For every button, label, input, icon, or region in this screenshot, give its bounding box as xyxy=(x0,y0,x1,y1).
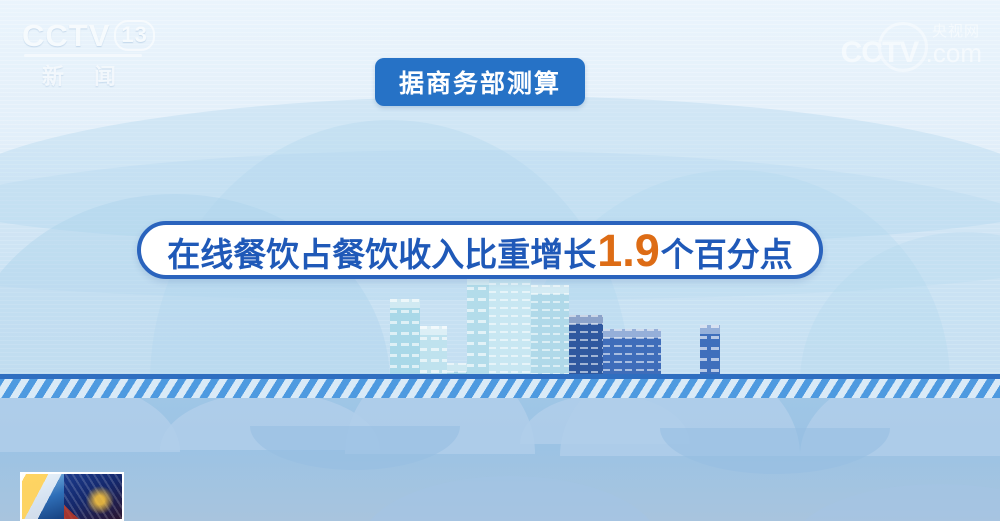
water-foreground xyxy=(0,398,1000,521)
wave-trough xyxy=(250,426,460,470)
building-roof-cap xyxy=(390,299,420,308)
cctv-com-domain: .com xyxy=(926,38,982,68)
cctv13-wordmark: CCTV 13 xyxy=(22,20,148,51)
cctv13-underline xyxy=(24,54,142,57)
bug-swoosh-panel xyxy=(22,474,64,519)
ground-striped-band xyxy=(0,379,1000,398)
wave-crest-deep xyxy=(790,484,1000,521)
headline-pill: 在线餐饮占餐饮收入比重增长 1.9 个百分点 xyxy=(137,221,823,279)
news-globe-bug-icon xyxy=(20,472,124,521)
cctv13-logo-icon: CCTV 13 新 闻 xyxy=(22,20,148,80)
headline-prefix: 在线餐饮占餐饮收入比重增长 xyxy=(167,238,596,271)
bug-globe-panel xyxy=(64,474,122,519)
headline-text: 在线餐饮占餐饮收入比重增长 1.9 个百分点 xyxy=(167,228,793,273)
cctv-com-brand: CCTV xyxy=(841,36,919,69)
building-roof-cap xyxy=(569,315,603,324)
kicker-label: 据商务部测算 xyxy=(399,64,561,100)
cctv13-number-badge: 13 xyxy=(114,20,154,50)
broadcast-graphic-stage: 据商务部测算 在线餐饮占餐饮收入比重增长 1.9 个百分点 CCTV 13 新 … xyxy=(0,0,1000,521)
cctv13-channel-name: 新 闻 xyxy=(22,59,148,91)
building-roof-cap xyxy=(700,325,720,334)
headline-suffix: 个百分点 xyxy=(661,238,793,271)
building-roof-cap xyxy=(531,285,569,294)
building-roof-cap xyxy=(420,326,447,335)
wave-crest xyxy=(0,398,180,452)
kicker-banner: 据商务部测算 xyxy=(375,58,585,106)
wave-crest-deep xyxy=(360,476,660,521)
building-roof-cap xyxy=(603,329,661,338)
cctv-com-wordmark: CCTV .com xyxy=(841,36,982,70)
headline-highlight-value: 1.9 xyxy=(596,228,661,273)
cctv13-channel-text: CCTV xyxy=(22,20,110,51)
wave-trough xyxy=(660,428,890,474)
cctv-com-watermark-icon: 央视网 CCTV .com xyxy=(796,22,986,74)
